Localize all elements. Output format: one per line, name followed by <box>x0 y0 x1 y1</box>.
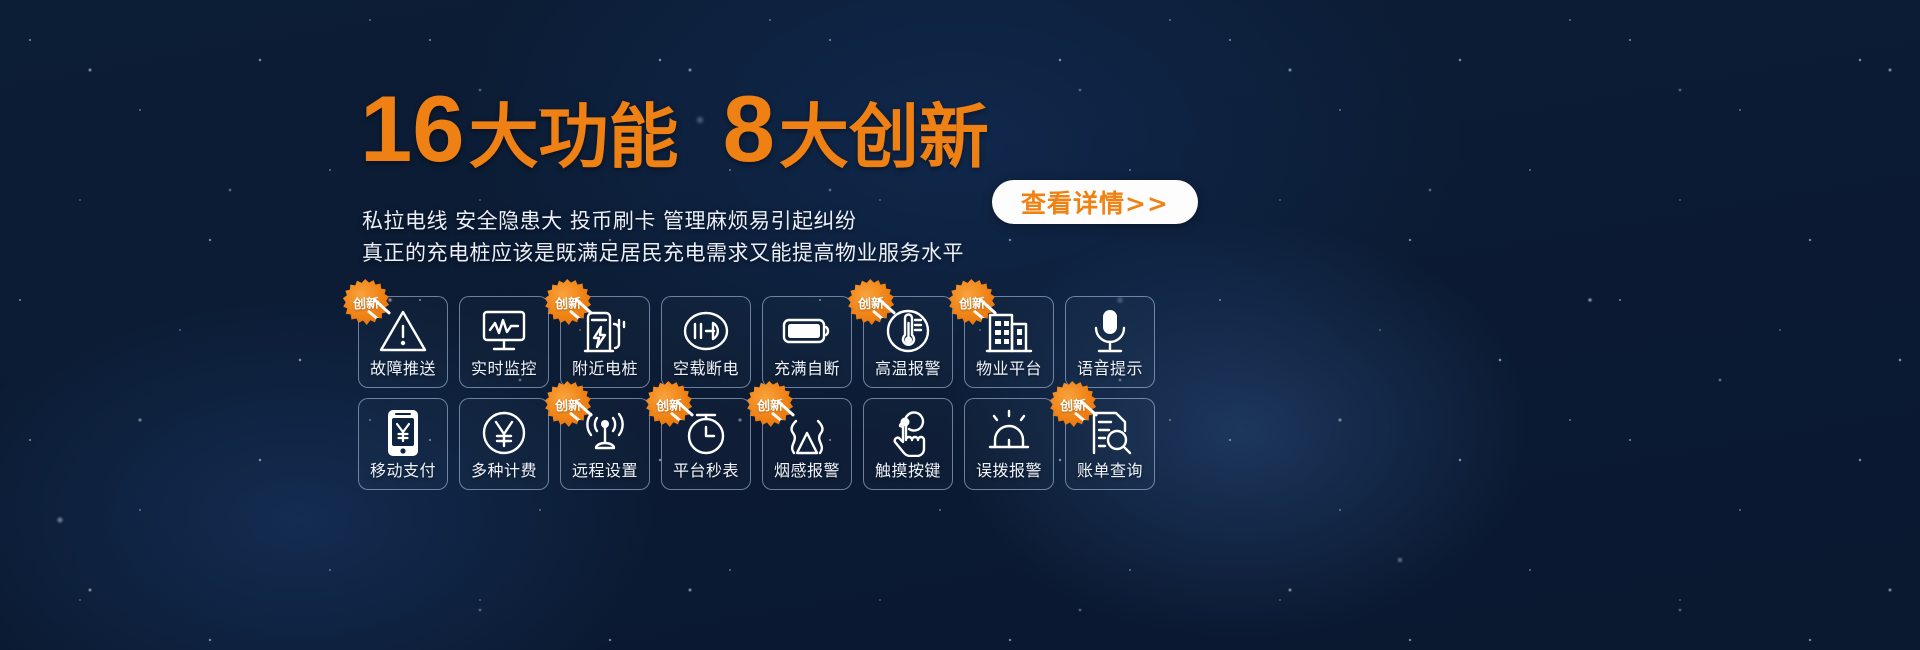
feature-card[interactable]: 创新平台秒表 <box>661 398 751 490</box>
feature-card-label: 账单查询 <box>1077 463 1143 479</box>
headline-text-functions: 大功能 <box>469 102 679 172</box>
battery-full-icon <box>780 303 834 359</box>
feature-card-label: 远程设置 <box>572 463 638 479</box>
feature-card[interactable]: 多种计费 <box>459 398 549 490</box>
feature-card-grid: 创新故障推送实时监控创新附近电桩空载断电充满自断创新高温报警创新物业平台语音提示… <box>358 296 1155 490</box>
feature-card[interactable]: 创新附近电桩 <box>560 296 650 388</box>
headline-text-innovations: 大创新 <box>779 102 989 172</box>
headline: 16 大功能 8 大创新 <box>360 86 989 172</box>
feature-card-label: 充满自断 <box>774 361 840 377</box>
monitor-waveform-icon <box>479 303 529 359</box>
yuan-circle-icon <box>480 405 528 461</box>
feature-card-label: 平台秒表 <box>673 463 739 479</box>
feature-card[interactable]: 创新账单查询 <box>1065 398 1155 490</box>
microphone-icon <box>1088 303 1132 359</box>
headline-number-innovations: 8 <box>723 86 775 172</box>
mobile-payment-icon <box>383 405 423 461</box>
subtitle-line-1: 私拉电线 安全隐患大 投币刷卡 管理麻烦易引起纠纷 <box>362 206 982 238</box>
subtitle-line-2: 真正的充电桩应该是既满足居民充电需求又能提高物业服务水平 <box>362 238 982 270</box>
touch-hand-icon <box>883 405 933 461</box>
feature-card-label: 高温报警 <box>875 361 941 377</box>
feature-card[interactable]: 创新烟感报警 <box>762 398 852 490</box>
plug-circle-icon <box>680 303 732 359</box>
feature-card[interactable]: 移动支付 <box>358 398 448 490</box>
feature-card[interactable]: 空载断电 <box>661 296 751 388</box>
view-details-button[interactable]: 查看详情>> <box>992 180 1198 224</box>
feature-card[interactable]: 创新远程设置 <box>560 398 650 490</box>
feature-card[interactable]: 误拨报警 <box>964 398 1054 490</box>
feature-card-label: 附近电桩 <box>572 361 638 377</box>
headline-number-functions: 16 <box>360 86 465 172</box>
feature-card-label: 误拨报警 <box>976 463 1042 479</box>
feature-card-label: 触摸按键 <box>875 463 941 479</box>
feature-card-label: 物业平台 <box>976 361 1042 377</box>
feature-card[interactable]: 触摸按键 <box>863 398 953 490</box>
siren-bell-icon <box>984 405 1034 461</box>
feature-card-label: 烟感报警 <box>774 463 840 479</box>
feature-card-label: 移动支付 <box>370 463 436 479</box>
subtitle: 私拉电线 安全隐患大 投币刷卡 管理麻烦易引起纠纷 真正的充电桩应该是既满足居民… <box>362 206 982 269</box>
feature-card-label: 故障推送 <box>370 361 436 377</box>
feature-card[interactable]: 创新故障推送 <box>358 296 448 388</box>
feature-card[interactable]: 创新高温报警 <box>863 296 953 388</box>
feature-card[interactable]: 充满自断 <box>762 296 852 388</box>
feature-card-label: 语音提示 <box>1077 361 1143 377</box>
feature-card-label: 空载断电 <box>673 361 739 377</box>
feature-card[interactable]: 实时监控 <box>459 296 549 388</box>
feature-card-label: 多种计费 <box>471 463 537 479</box>
feature-card-label: 实时监控 <box>471 361 537 377</box>
feature-card[interactable]: 语音提示 <box>1065 296 1155 388</box>
feature-card[interactable]: 创新物业平台 <box>964 296 1054 388</box>
promo-banner: 16 大功能 8 大创新 私拉电线 安全隐患大 投币刷卡 管理麻烦易引起纠纷 真… <box>0 0 1920 650</box>
